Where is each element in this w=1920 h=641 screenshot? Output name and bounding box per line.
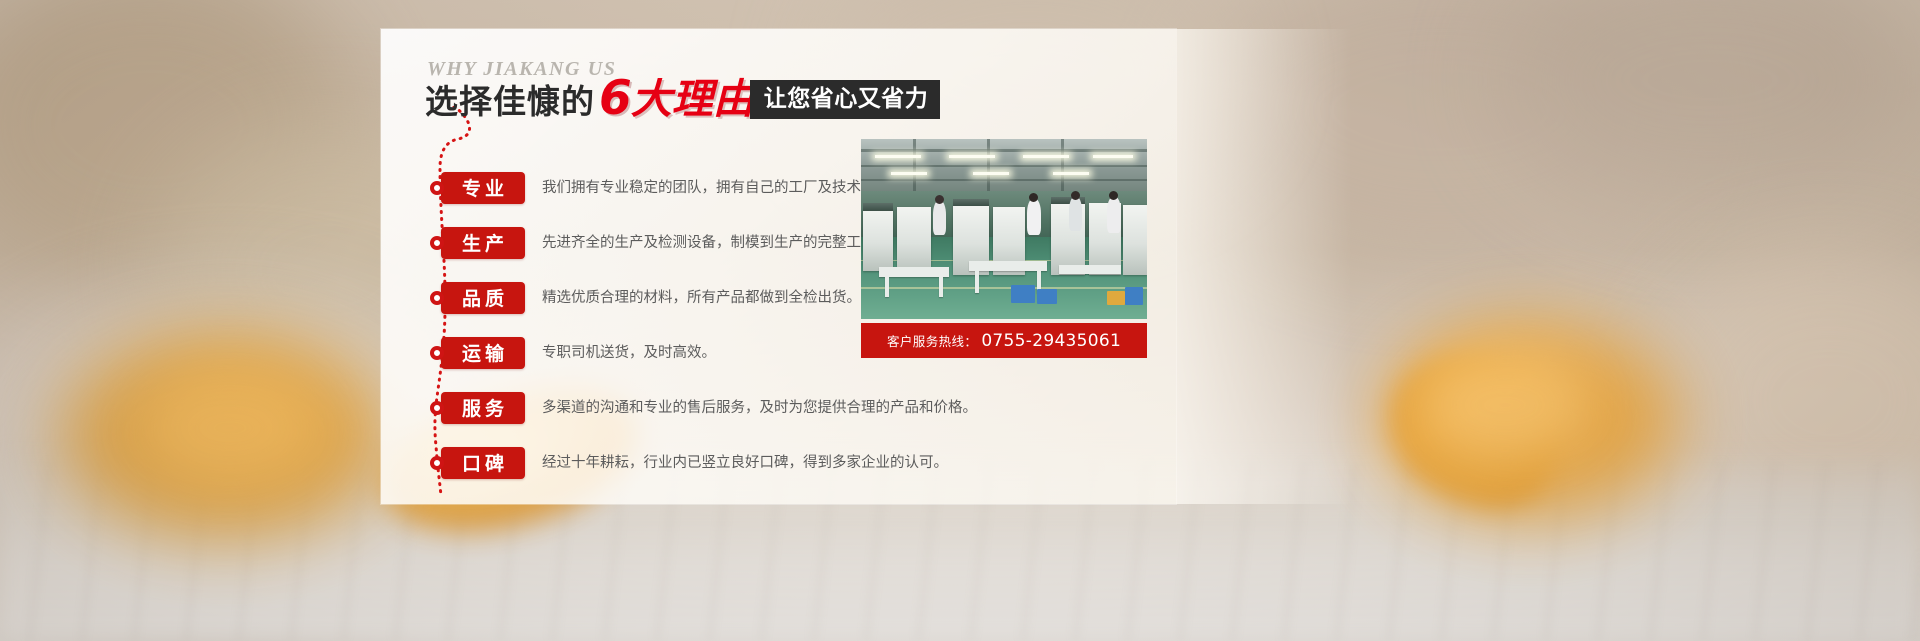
bullet-dot-icon	[430, 291, 444, 305]
reason-tag: 生产	[441, 227, 525, 259]
reason-description: 经过十年耕耘，行业内已竖立良好口碑，得到多家企业的认可。	[542, 452, 948, 474]
reason-row: 口碑 经过十年耕耘，行业内已竖立良好口碑，得到多家企业的认可。	[430, 435, 1150, 490]
factory-photo	[861, 139, 1147, 319]
bullet-dot-icon	[430, 236, 444, 250]
heading-number: 6	[599, 77, 631, 121]
banner-stage: WHY JIAKANG US 选择佳慷的 6 大理由 让您省心又省力 专业 我们…	[0, 0, 1920, 641]
reason-description: 我们拥有专业稳定的团队，拥有自己的工厂及技术。	[542, 177, 876, 199]
bullet-dot-icon	[430, 456, 444, 470]
hotline-bar: 客户服务热线： 0755-29435061	[861, 323, 1147, 358]
heading-cn-prefix: 选择佳慷的	[425, 83, 595, 121]
reason-tag: 口碑	[441, 447, 525, 479]
hotline-number: 0755-29435061	[981, 331, 1121, 351]
bullet-dot-icon	[430, 401, 444, 415]
reason-tag: 服务	[441, 392, 525, 424]
bullet-dot-icon	[430, 181, 444, 195]
reason-description: 精选优质合理的材料，所有产品都做到全检出货。	[542, 287, 861, 309]
reason-tag: 专业	[441, 172, 525, 204]
reason-description: 多渠道的沟通和专业的售后服务，及时为您提供合理的产品和价格。	[542, 397, 977, 419]
heading-red-text: 大理由	[631, 77, 754, 121]
reason-description: 先进齐全的生产及检测设备，制模到生产的完整工艺。	[542, 232, 890, 254]
reason-row: 服务 多渠道的沟通和专业的售后服务，及时为您提供合理的产品和价格。	[430, 380, 1150, 435]
reason-tag: 运输	[441, 337, 525, 369]
bullet-dot-icon	[430, 346, 444, 360]
reason-description: 专职司机送货，及时高效。	[542, 342, 716, 364]
reason-tag: 品质	[441, 282, 525, 314]
hotline-label: 客户服务热线：	[887, 331, 977, 350]
content-panel-fade	[1176, 29, 1352, 504]
heading-black-box: 让您省心又省力	[750, 80, 941, 119]
